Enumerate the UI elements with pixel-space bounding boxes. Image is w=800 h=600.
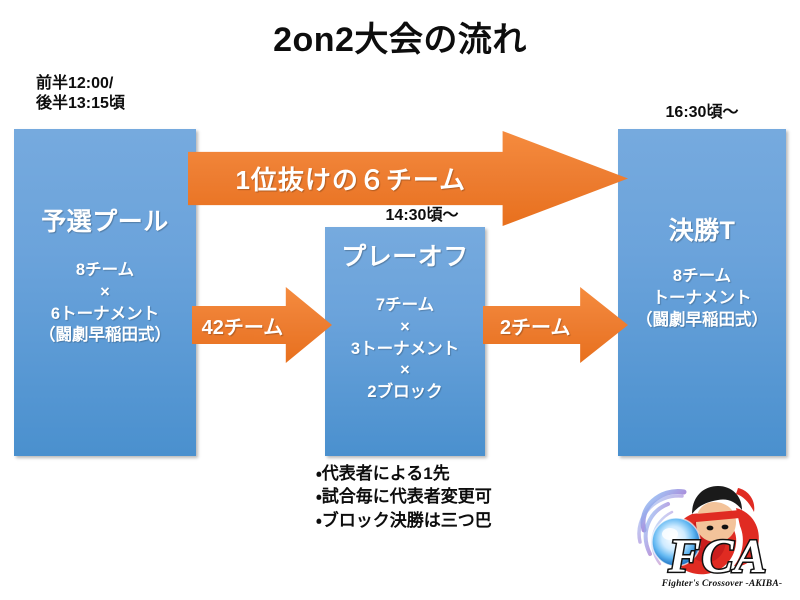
playoff-rule-item-2: ・試合毎に代表者変更可 bbox=[316, 485, 492, 508]
slide-canvas: 2on2大会の流れ 前半12:00/ 後半13:15頃 14:30頃～ 16:3… bbox=[0, 0, 800, 600]
caption-pool-time-line2: 後半13:15頃 bbox=[36, 94, 125, 114]
stage-box-pool-line-2: × bbox=[14, 282, 196, 304]
caption-playoff-time: 14:30頃～ bbox=[342, 206, 502, 226]
stage-box-pool-line-4: （闘劇早稲田式） bbox=[14, 325, 196, 347]
caption-pool-time-line1: 前半12:00/ bbox=[36, 74, 125, 94]
flow-arrow-pool-to-playoff: 42チーム bbox=[192, 287, 332, 363]
flow-arrow-pool-to-playoff-label: 42チーム bbox=[192, 311, 332, 340]
stage-box-playoff-line-4: × bbox=[325, 360, 485, 382]
stage-box-final-line-1: 8チーム bbox=[618, 266, 786, 288]
fca-wordmark: FCA bbox=[667, 530, 767, 583]
stage-box-final: 決勝T 8チーム トーナメント （闘劇早稲田式） bbox=[618, 129, 786, 456]
stage-box-pool-heading: 予選プール bbox=[14, 208, 196, 237]
flow-arrow-pool-to-final-label: 1位抜けの６チーム bbox=[188, 160, 628, 197]
flow-arrow-playoff-to-final-label: 2チーム bbox=[483, 311, 628, 340]
playoff-rule-item-3: ・ブロック決勝は三つ巴 bbox=[316, 509, 492, 532]
caption-final-time: 16:30頃～ bbox=[624, 103, 780, 123]
stage-box-pool-line-1: 8チーム bbox=[14, 260, 196, 282]
playoff-rules-notes: ・代表者による1先 ・試合毎に代表者変更可 ・ブロック決勝は三つ巴 bbox=[316, 462, 492, 532]
fca-logo-artwork: FCA Fighter's Crossover -AKIBA- bbox=[630, 468, 794, 594]
stage-box-final-heading: 決勝T bbox=[618, 217, 786, 246]
stage-box-final-details: 8チーム トーナメント （闘劇早稲田式） bbox=[618, 266, 786, 331]
stage-box-final-line-2: トーナメント bbox=[618, 288, 786, 310]
stage-box-playoff-line-1: 7チーム bbox=[325, 295, 485, 317]
stage-box-playoff-line-5: 2ブロック bbox=[325, 382, 485, 404]
flow-arrow-playoff-to-final: 2チーム bbox=[483, 287, 628, 363]
caption-pool-time: 前半12:00/ 後半13:15頃 bbox=[36, 74, 125, 113]
stage-box-pool-line-3: 6トーナメント bbox=[14, 304, 196, 326]
stage-box-pool-details: 8チーム × 6トーナメント （闘劇早稲田式） bbox=[14, 260, 196, 347]
fca-logo: FCA Fighter's Crossover -AKIBA- bbox=[630, 468, 794, 594]
fca-tagline: Fighter's Crossover -AKIBA- bbox=[661, 579, 782, 589]
stage-box-pool: 予選プール 8チーム × 6トーナメント （闘劇早稲田式） bbox=[14, 129, 196, 456]
page-title: 2on2大会の流れ bbox=[0, 12, 800, 61]
playoff-rule-item-1: ・代表者による1先 bbox=[316, 462, 492, 485]
stage-box-final-line-3: （闘劇早稲田式） bbox=[618, 310, 786, 332]
stage-box-playoff-details: 7チーム × 3トーナメント × 2ブロック bbox=[325, 295, 485, 404]
stage-box-playoff: プレーオフ 7チーム × 3トーナメント × 2ブロック bbox=[325, 227, 485, 456]
stage-box-playoff-line-2: × bbox=[325, 317, 485, 339]
stage-box-playoff-heading: プレーオフ bbox=[325, 243, 485, 272]
stage-box-playoff-line-3: 3トーナメント bbox=[325, 339, 485, 361]
